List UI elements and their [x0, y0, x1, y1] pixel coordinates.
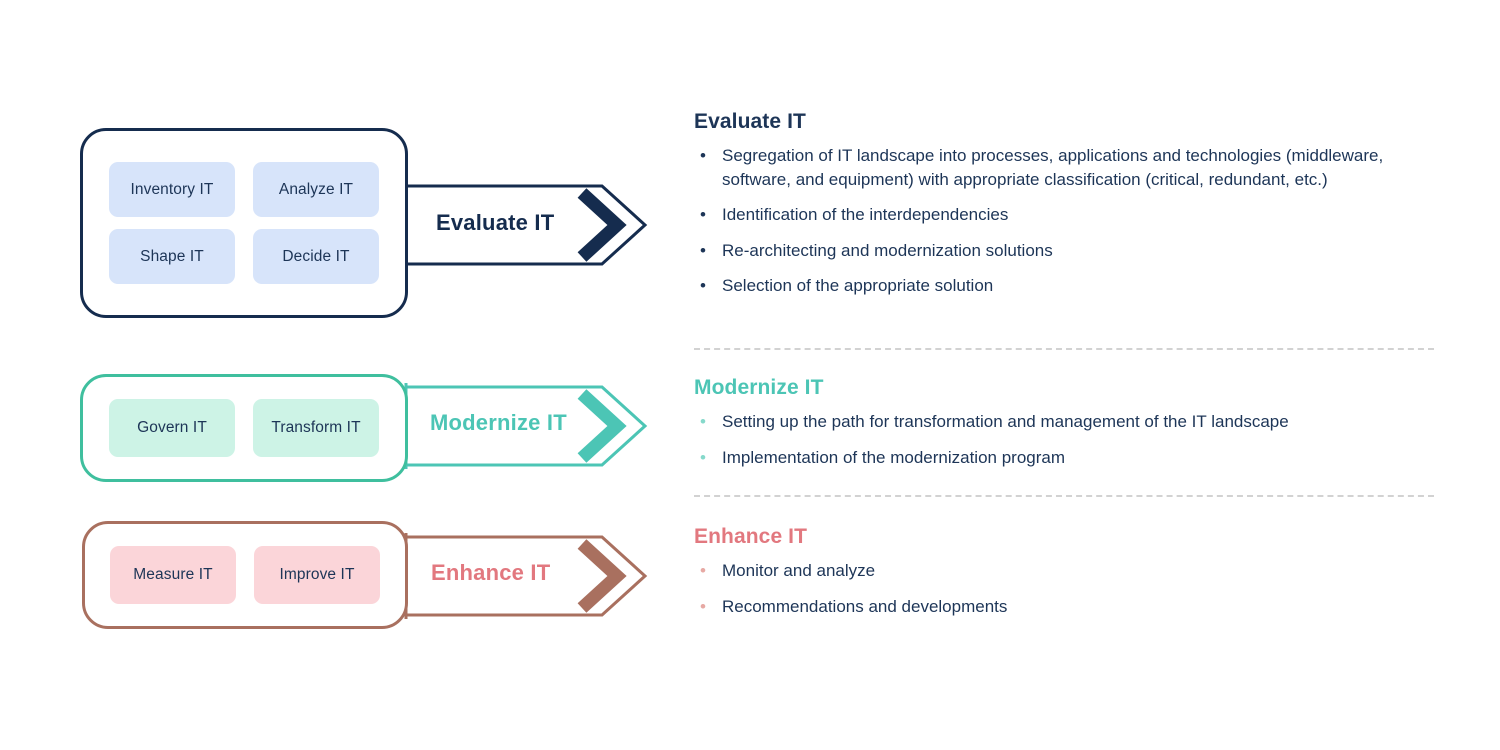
section-divider	[694, 495, 1434, 497]
bullet-dot-icon: •	[700, 446, 706, 470]
phase-group-modernize: Govern IT Transform IT	[80, 374, 408, 482]
tile-measure-it[interactable]: Measure IT	[110, 546, 236, 604]
tile-govern-it[interactable]: Govern IT	[109, 399, 235, 457]
bullet-dot-icon: •	[700, 410, 706, 434]
arrow-modernize-svg	[396, 383, 656, 469]
tile-analyze-it[interactable]: Analyze IT	[253, 162, 379, 217]
bullet-list-modernize: • Setting up the path for transformation…	[694, 410, 1434, 469]
section-heading-modernize: Modernize IT	[694, 376, 1434, 400]
list-item: • Selection of the appropriate solution	[694, 274, 1434, 298]
arrow-banner-evaluate	[396, 182, 656, 268]
phase-group-enhance: Measure IT Improve IT	[82, 521, 408, 629]
bullet-text: Monitor and analyze	[722, 561, 875, 580]
section-heading-enhance: Enhance IT	[694, 525, 1434, 549]
list-item: • Recommendations and developments	[694, 595, 1434, 619]
list-item: • Implementation of the modernization pr…	[694, 446, 1434, 470]
section-divider	[694, 348, 1434, 350]
chevron-filled-icon	[582, 193, 617, 257]
bullet-text: Setting up the path for transformation a…	[722, 412, 1289, 431]
bullet-text: Selection of the appropriate solution	[722, 276, 993, 295]
bullet-dot-icon: •	[700, 559, 706, 583]
tile-improve-it[interactable]: Improve IT	[254, 546, 380, 604]
bullet-dot-icon: •	[700, 595, 706, 619]
chevron-filled-icon	[582, 394, 617, 458]
detail-section-modernize: Modernize IT • Setting up the path for t…	[694, 376, 1434, 481]
phase-group-evaluate: Inventory IT Analyze IT Shape IT Decide …	[80, 128, 408, 318]
bullet-dot-icon: •	[700, 239, 706, 263]
detail-section-enhance: Enhance IT • Monitor and analyze • Recom…	[694, 525, 1434, 630]
list-item: • Setting up the path for transformation…	[694, 410, 1434, 434]
bullet-text: Identification of the interdependencies	[722, 205, 1008, 224]
list-item: • Monitor and analyze	[694, 559, 1434, 583]
bullet-dot-icon: •	[700, 144, 706, 168]
arrow-enhance-svg	[396, 533, 656, 619]
chevron-filled-icon	[582, 544, 617, 608]
list-item: • Re-architecting and modernization solu…	[694, 239, 1434, 263]
arrow-banner-modernize	[396, 383, 656, 469]
bullet-text: Segregation of IT landscape into process…	[722, 146, 1383, 189]
bullet-text: Implementation of the modernization prog…	[722, 448, 1065, 467]
bullet-dot-icon: •	[700, 274, 706, 298]
list-item: • Segregation of IT landscape into proce…	[694, 144, 1434, 191]
bullet-list-evaluate: • Segregation of IT landscape into proce…	[694, 144, 1434, 298]
tile-shape-it[interactable]: Shape IT	[109, 229, 235, 284]
list-item: • Identification of the interdependencie…	[694, 203, 1434, 227]
bullet-text: Re-architecting and modernization soluti…	[722, 241, 1053, 260]
arrow-banner-enhance	[396, 533, 656, 619]
detail-section-evaluate: Evaluate IT • Segregation of IT landscap…	[694, 110, 1434, 310]
bullet-text: Recommendations and developments	[722, 597, 1007, 616]
tile-decide-it[interactable]: Decide IT	[253, 229, 379, 284]
diagram-canvas: Inventory IT Analyze IT Shape IT Decide …	[0, 0, 1500, 750]
arrow-evaluate-svg	[396, 182, 656, 268]
bullet-dot-icon: •	[700, 203, 706, 227]
tile-inventory-it[interactable]: Inventory IT	[109, 162, 235, 217]
bullet-list-enhance: • Monitor and analyze • Recommendations …	[694, 559, 1434, 618]
tile-transform-it[interactable]: Transform IT	[253, 399, 379, 457]
section-heading-evaluate: Evaluate IT	[694, 110, 1434, 134]
